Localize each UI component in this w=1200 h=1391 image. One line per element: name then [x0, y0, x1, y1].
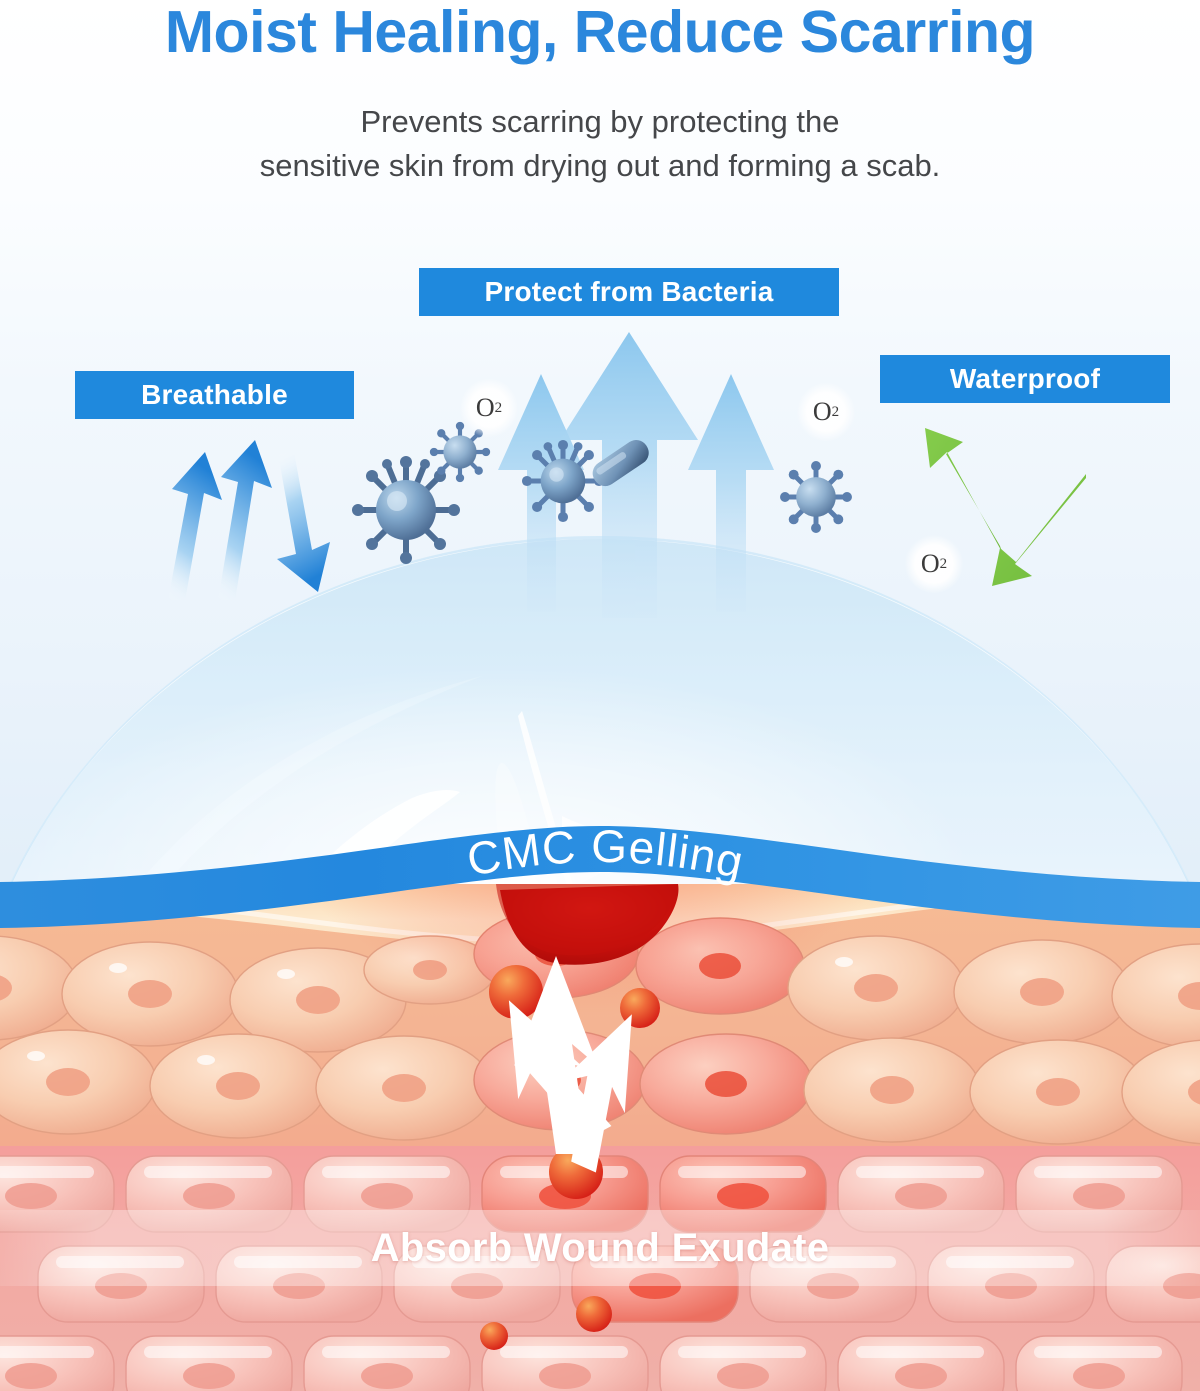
- subtitle-line-1: Prevents scarring by protecting the: [0, 100, 1200, 144]
- page-subtitle: Prevents scarring by protecting the sens…: [0, 100, 1200, 188]
- o2-subscript: 2: [832, 404, 840, 421]
- o2-symbol: O: [476, 393, 495, 423]
- arrow-up-left-icon: [925, 428, 1002, 552]
- badge-breathable[interactable]: Breathable: [75, 371, 354, 419]
- arrow-up-icon: [168, 452, 222, 601]
- cmc-gelling-band: [0, 818, 1200, 950]
- o2-symbol: O: [921, 549, 940, 579]
- page-title: Moist Healing, Reduce Scarring: [0, 2, 1200, 64]
- virus-icon: [522, 440, 604, 522]
- virus-icon: [352, 456, 460, 564]
- absorb-wound-exudate-label: Absorb Wound Exudate: [0, 1210, 1200, 1286]
- subtitle-line-2: sensitive skin from drying out and formi…: [0, 144, 1200, 188]
- breathable-arrows: [168, 440, 330, 601]
- arrow-up-icon: [218, 440, 272, 601]
- o2-molecule-left: O2: [460, 379, 518, 437]
- o2-subscript: 2: [495, 400, 503, 417]
- arrow-down-icon: [277, 452, 330, 592]
- badge-protect-from-bacteria[interactable]: Protect from Bacteria: [419, 268, 839, 316]
- bacillus-rod-icon: [588, 435, 653, 490]
- skin-layers: [0, 884, 1200, 1391]
- skin-cross-section: [0, 884, 1200, 1391]
- virus-icon: [780, 461, 852, 533]
- arrow-down-right-icon: [992, 474, 1086, 586]
- o2-symbol: O: [813, 397, 832, 427]
- badge-waterproof[interactable]: Waterproof: [880, 355, 1170, 403]
- o2-subscript: 2: [940, 556, 948, 573]
- o2-molecule-lower-right: O2: [905, 535, 963, 593]
- o2-molecule-right: O2: [797, 383, 855, 441]
- infographic-canvas: Moist Healing, Reduce Scarring Prevents …: [0, 0, 1200, 1391]
